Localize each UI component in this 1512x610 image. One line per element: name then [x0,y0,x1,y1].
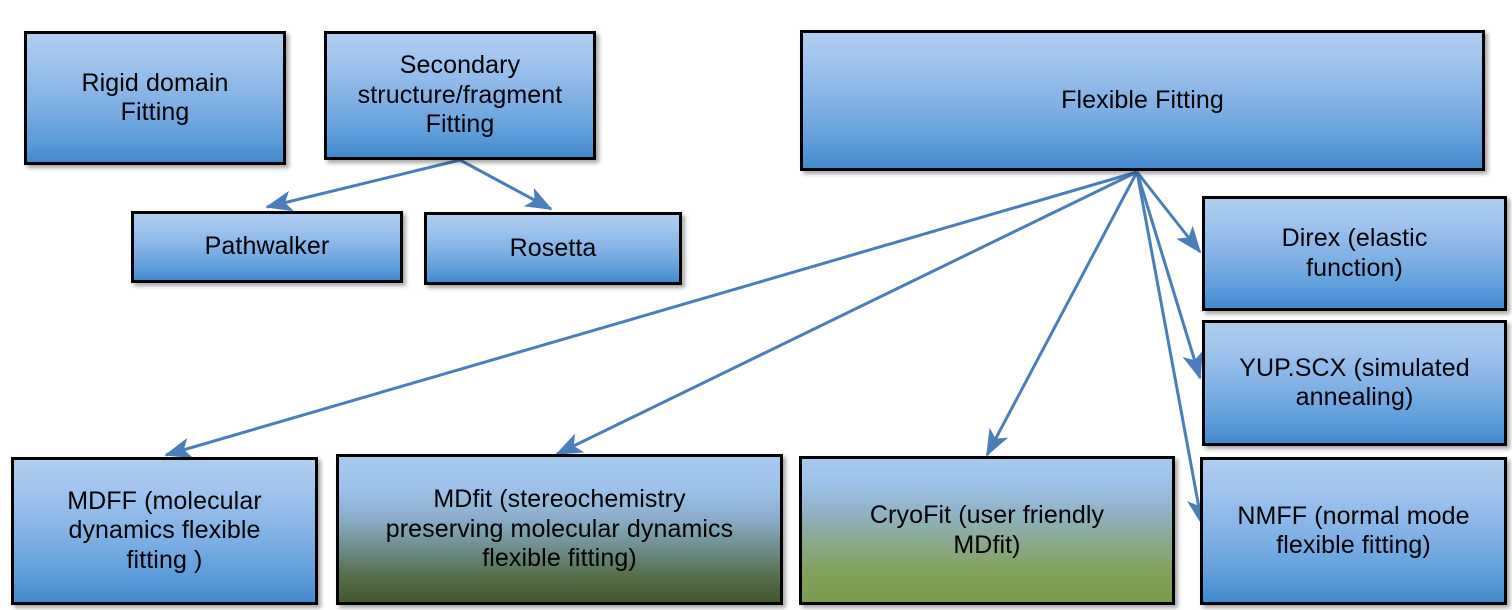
node-label-pathwalker: Pathwalker [205,232,330,262]
node-label-mdff: MDFF (moleculardynamics flexiblefitting … [67,487,262,576]
node-rosetta[interactable]: Rosetta [424,212,682,285]
node-label-rigid-domain-fitting: Rigid domainFitting [81,69,228,128]
node-secondary-structure-fragment-fitting[interactable]: Secondarystructure/fragmentFitting [324,31,596,160]
node-label-yupscx: YUP.SCX (simulatedannealing) [1239,354,1470,413]
node-mdfit[interactable]: MDfit (stereochemistrypreserving molecul… [336,454,783,605]
node-label-rosetta: Rosetta [510,234,597,264]
node-yupscx[interactable]: YUP.SCX (simulatedannealing) [1202,320,1507,446]
diagram-canvas: Rigid domainFittingSecondarystructure/fr… [0,0,1512,610]
edge-flexible-to-direx [1137,172,1200,252]
node-label-direx: Direx (elasticfunction) [1282,224,1428,283]
node-label-cryofit: CryoFit (user friendlyMDfit) [870,501,1104,560]
node-pathwalker[interactable]: Pathwalker [131,211,403,283]
node-direx[interactable]: Direx (elasticfunction) [1202,196,1507,311]
node-mdff[interactable]: MDFF (moleculardynamics flexiblefitting … [11,457,318,605]
node-label-secondary-structure-fragment-fitting: Secondarystructure/fragmentFitting [358,51,563,140]
node-flexible-fitting[interactable]: Flexible Fitting [800,30,1485,171]
edge-secondary-to-pathwalker [267,160,460,207]
node-rigid-domain-fitting[interactable]: Rigid domainFitting [24,31,286,165]
node-label-flexible-fitting: Flexible Fitting [1061,86,1224,116]
node-cryofit[interactable]: CryoFit (user friendlyMDfit) [799,456,1175,605]
node-label-mdfit: MDfit (stereochemistrypreserving molecul… [386,485,733,574]
node-label-nmff: NMFF (normal modeflexible fitting) [1237,502,1469,561]
edge-secondary-to-rosetta [460,160,551,209]
edge-flexible-to-cryofit [987,172,1137,455]
edge-flexible-to-yupscx [1137,172,1200,378]
node-nmff[interactable]: NMFF (normal modeflexible fitting) [1200,457,1507,605]
